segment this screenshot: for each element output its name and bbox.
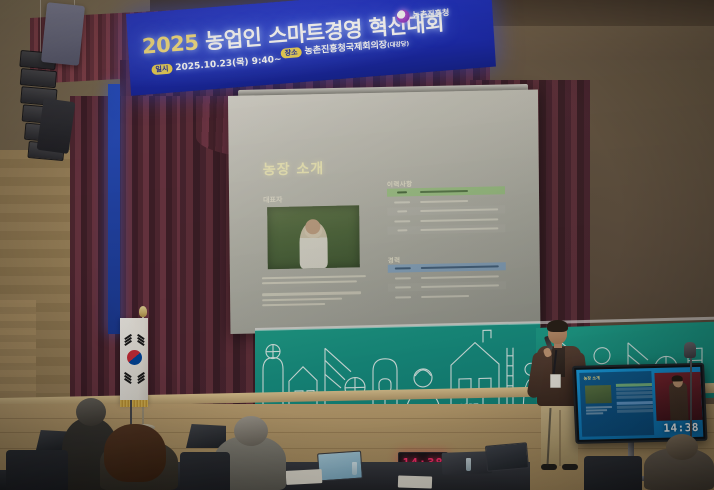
logo-text: 농촌진흥청: [412, 7, 449, 21]
projection-screen: 농장 소개 대표자 이력사항: [228, 90, 540, 334]
camera-feed-hair: [672, 375, 683, 381]
audience-head-2: [104, 424, 166, 482]
slide-table1-heading: 이력사항: [387, 178, 413, 189]
audience-head-1: [76, 398, 106, 426]
taeguk-symbol-icon: [127, 350, 142, 365]
monitor-timer: 14:38: [663, 421, 699, 435]
flag-fringe: [120, 400, 148, 407]
flag-finial-icon: [139, 306, 147, 317]
speaker-array-side-panel: [41, 2, 85, 66]
slide-photo-caption: [262, 275, 370, 309]
presenter-shoe-left: [541, 464, 557, 470]
banner-time: 9:40~: [251, 55, 281, 67]
speaker-module: [20, 68, 57, 88]
laptop-screen-far-right: [485, 442, 529, 472]
date-pill: 일시: [151, 63, 172, 75]
monitor-slide-title: 농장 소개: [583, 375, 599, 381]
slide-table1: [387, 186, 505, 236]
seat-chair-3: [584, 456, 642, 490]
confidence-monitor: 농장 소개: [572, 363, 708, 444]
logo-mark-icon: [396, 9, 410, 23]
seat-chair-2: [180, 452, 230, 490]
banner-venue-sub: (대강당): [387, 40, 409, 49]
presenter-leg-seam: [559, 410, 561, 466]
water-bottle: [352, 462, 357, 475]
banner-year: 2025: [141, 30, 199, 58]
monitor-slide-mirror: 농장 소개: [579, 371, 654, 437]
banner-venue: 농촌진흥청국제회의장: [304, 40, 387, 57]
venue-pill: 장소: [280, 47, 301, 59]
rigging-wire-1: [40, 0, 41, 58]
slide-table2: [388, 262, 506, 302]
microphone-stand: [690, 352, 692, 448]
slide-title: 농장 소개: [263, 158, 325, 179]
camera-feed-person: [669, 382, 689, 420]
monitor-screen: 농장 소개: [576, 367, 703, 440]
slide-table2-heading: 경력: [388, 254, 401, 264]
audience-head-3: [234, 416, 268, 446]
monitor-slide-photo: [585, 385, 612, 404]
document-papers-2: [398, 475, 432, 488]
korean-flag: [120, 318, 148, 404]
conference-hall-photo: 2025 농업인 스마트경영 혁신대회 일시2025.10.23(목) 9:40…: [0, 0, 714, 490]
audience-head-4: [666, 434, 698, 460]
document-papers: [286, 469, 323, 485]
slide-photo-label: 대표자: [263, 195, 282, 205]
monitor-slide-table: [616, 383, 653, 414]
seat-chair-1: [6, 450, 68, 490]
microphone-head-icon: [684, 342, 696, 358]
table-row: [388, 291, 506, 301]
presenter-hair: [547, 320, 568, 332]
slide-farmer-photo: [267, 205, 360, 269]
banner-date: 2025.10.23: [175, 59, 232, 74]
live-camera-feed: [654, 372, 702, 421]
water-bottle-2: [466, 458, 471, 471]
table-row: [387, 224, 505, 234]
blue-wall-light-panel: [108, 84, 120, 334]
banner-day: (목): [232, 57, 249, 68]
presenter-shoe-right: [562, 464, 578, 470]
presenter-badge: [550, 374, 561, 388]
monitor-slide-caption: [586, 406, 612, 416]
